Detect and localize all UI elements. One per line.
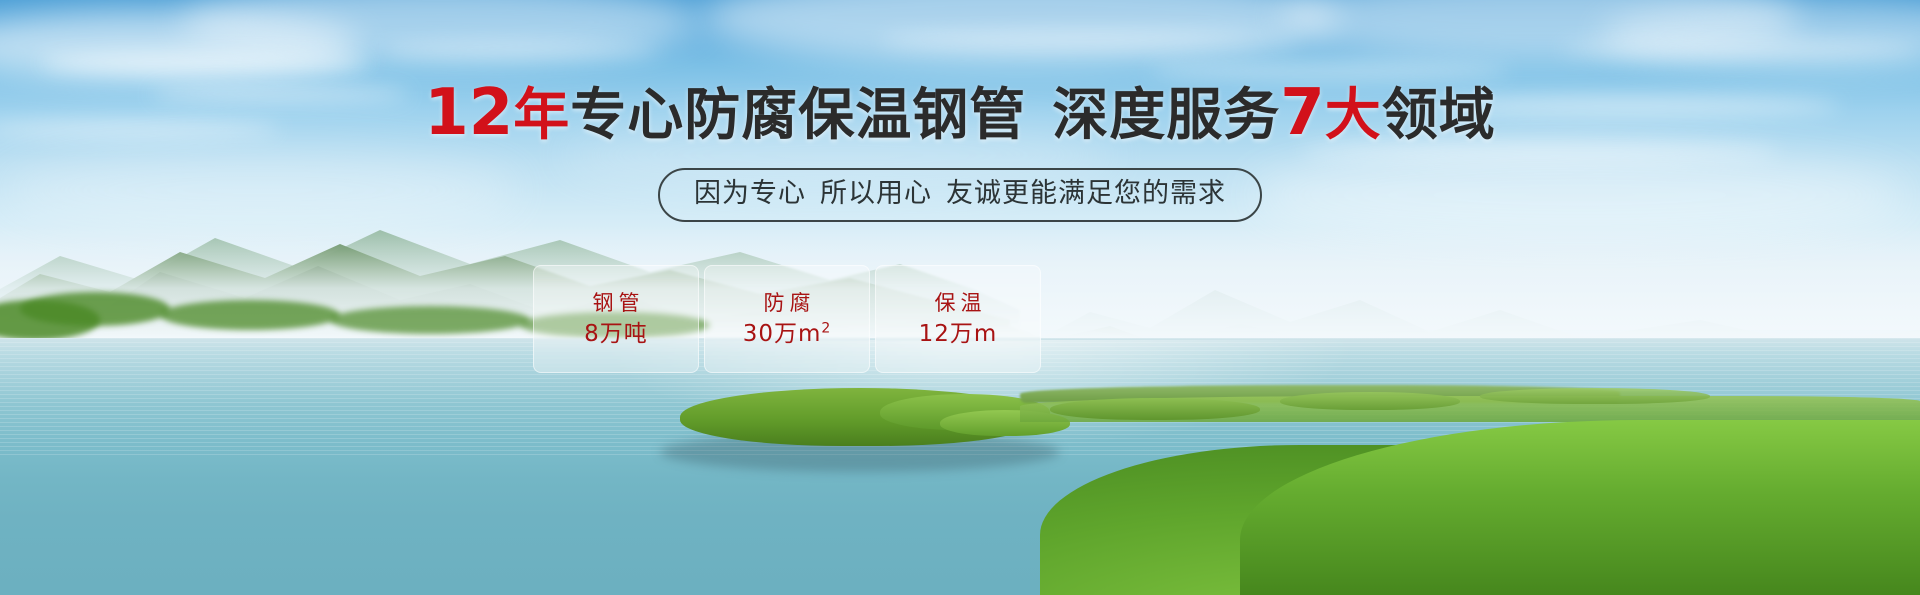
stat-card-label: 保温 [930,291,987,315]
stat-card-group: 钢管 8万吨 防腐 30万m2 保温 12万m [533,265,1041,373]
headline-fields-number: 7 [1280,76,1325,150]
stat-card-value: 30万m2 [743,321,832,347]
headline-service-text: 深度服务 [1052,83,1280,148]
stat-value-text: 12万m [919,321,998,347]
subtitle-part-2: 所以用心 [820,178,932,209]
stat-card-label: 钢管 [588,291,645,315]
stat-card-insulation[interactable]: 保温 12万m [875,265,1041,373]
stat-value-text: 8万吨 [584,321,648,347]
headline-fields-tail: 领域 [1382,83,1496,148]
banner-content: 12年专心防腐保温钢管深度服务7大领域 因为专心所以用心友诚更能满足您的需求 钢… [0,0,1920,595]
stat-card-value: 12万m [919,321,998,347]
hero-banner: 12年专心防腐保温钢管深度服务7大领域 因为专心所以用心友诚更能满足您的需求 钢… [0,0,1920,595]
stat-value-text: 30万m [743,321,822,347]
subtitle-pill: 因为专心所以用心友诚更能满足您的需求 [658,168,1262,222]
headline: 12年专心防腐保温钢管深度服务7大领域 [0,83,1920,146]
subtitle-part-3: 友诚更能满足您的需求 [946,178,1226,209]
stat-card-anticorrosion[interactable]: 防腐 30万m2 [704,265,870,373]
headline-years-unit: 年 [513,83,570,148]
stat-card-value: 8万吨 [584,321,648,347]
headline-years-number: 12 [424,76,513,150]
stat-card-steel-pipe[interactable]: 钢管 8万吨 [533,265,699,373]
headline-main-text: 专心防腐保温钢管 [570,83,1026,148]
stat-card-label: 防腐 [759,291,816,315]
stat-value-superscript: 2 [821,320,831,336]
subtitle-container: 因为专心所以用心友诚更能满足您的需求 [0,168,1920,222]
subtitle-part-1: 因为专心 [694,178,806,209]
headline-fields-unit: 大 [1325,83,1382,148]
